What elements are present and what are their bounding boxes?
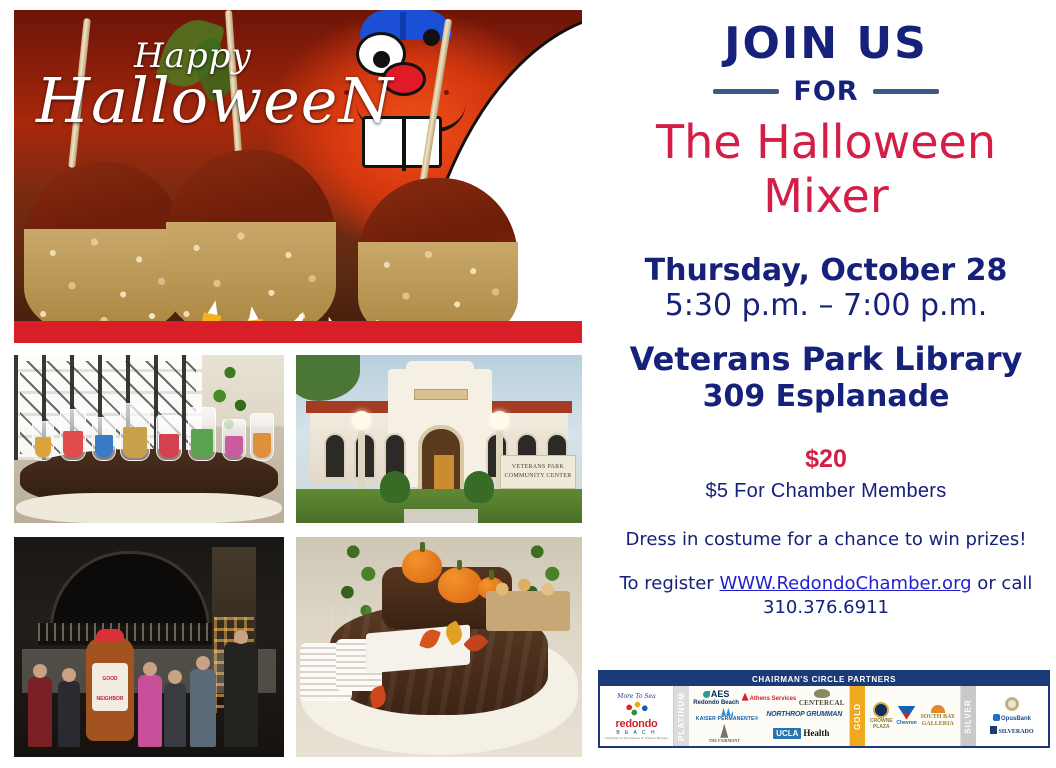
- library-plaque: [414, 389, 468, 400]
- kaiser-crown-icon: [721, 708, 733, 716]
- candy-jar: [156, 415, 182, 461]
- photo-collage: Happy HalloweeN: [14, 10, 582, 758]
- centercal-logo: CENTERCAL: [799, 689, 845, 707]
- athens-arrow-icon: [742, 693, 749, 701]
- candy-jar: [188, 407, 216, 461]
- shrub-decor: [380, 471, 410, 503]
- candy-jar: [60, 409, 86, 461]
- tier-label-gold: GOLD: [850, 686, 865, 746]
- library-sign-line2: COMMUNITY CENTER: [501, 472, 575, 481]
- caramel-apple: [24, 162, 184, 338]
- library-entrance-door: [418, 425, 464, 497]
- aes-name: AES: [711, 689, 730, 699]
- mascot-costume: GOOD NEIGHBOR: [86, 637, 134, 741]
- northrop-grumman-logo: NORTHROP GRUMMAN: [766, 711, 842, 719]
- for-label: FOR: [793, 76, 858, 107]
- silverado-logo: SILVERADO: [990, 726, 1033, 736]
- galleria-line2: GALLERIA: [920, 721, 955, 728]
- divider-rule-right: [873, 89, 939, 94]
- candy-jar: [92, 417, 116, 461]
- crowne-seal-icon: [873, 702, 889, 718]
- fairmont-logo: THE FAIRMONT: [709, 724, 740, 744]
- candy-jar: [32, 421, 54, 461]
- ucla-health-word: Health: [803, 728, 829, 738]
- aes-drop-icon: [703, 691, 710, 698]
- crowne-plaza-logo: CROWNE PLAZA: [870, 702, 893, 730]
- hero-photo-caramel-apples: Happy HalloweeN: [14, 10, 582, 343]
- centercal-name: CENTERCAL: [799, 699, 845, 707]
- event-time: 5:30 p.m. – 7:00 p.m.: [596, 288, 1056, 323]
- gold-label: GOLD: [853, 702, 862, 729]
- candy-jar: [222, 419, 246, 461]
- tier-label-silver: SILVER: [961, 686, 976, 746]
- ucla-health-logo: UCLA Health: [773, 728, 829, 739]
- event-details-panel: JOIN US FOR The Halloween Mixer Thursday…: [596, 0, 1056, 768]
- sponsor-banner: CHAIRMAN'S CIRCLE PARTNERS More To Sea r…: [598, 670, 1050, 748]
- caption-halloween: HalloweeN: [36, 72, 336, 131]
- athens-name: Athens Services: [750, 696, 797, 702]
- galleria-arch-icon: [931, 705, 945, 713]
- athens-services-logo: Athens Services: [742, 693, 797, 703]
- event-date: Thursday, October 28: [596, 254, 1056, 289]
- platinum-sponsor-logos: AES Redondo Beach Athens Services CENTER…: [689, 686, 850, 746]
- costume-note: Dress in costume for a chance to win pri…: [596, 529, 1056, 550]
- chevron-logo: Chevron: [896, 706, 916, 727]
- event-title: The Halloween Mixer: [596, 115, 1056, 224]
- mascot-text-line2: NEIGHBOR: [92, 695, 128, 703]
- library-sign-line1: VETERANS PARK: [501, 463, 575, 472]
- guest-figure: [138, 675, 162, 747]
- buffet-skirt: [16, 493, 282, 523]
- aes-logo: AES Redondo Beach: [693, 689, 739, 707]
- event-datetime: Thursday, October 28 5:30 p.m. – 7:00 p.…: [596, 254, 1056, 324]
- phone-number: 310.376.6911: [596, 596, 1056, 620]
- centercal-tree-icon: [814, 689, 830, 698]
- redondo-chamber-logo: More To Sea redondo B E A C H Chamber of…: [600, 686, 674, 746]
- library-walkway: [404, 509, 478, 523]
- guest-figure: [190, 669, 216, 747]
- silver-sponsor-logos: OpusBank SILVERADO: [976, 686, 1048, 746]
- chevron-hallmark-icon: [898, 706, 916, 720]
- event-title-line1: The Halloween: [596, 115, 1056, 169]
- for-divider-row: FOR: [596, 76, 1056, 107]
- opus-name: OpusBank: [1001, 716, 1031, 722]
- chevron-name: Chevron: [896, 720, 916, 726]
- mascot-text-line1: GOOD: [92, 675, 128, 683]
- candy-jar: [250, 413, 274, 461]
- hero-red-strip: [14, 321, 582, 343]
- pumpkin-decor: [402, 549, 442, 583]
- guest-figure: [28, 677, 52, 747]
- registration-line: To register WWW.RedondoChamber.org or ca…: [596, 572, 1056, 621]
- library-window: [324, 433, 346, 479]
- platinum-label: PLATINUM: [677, 692, 686, 741]
- guest-figure: [58, 681, 80, 747]
- silverado-mark-icon: [990, 726, 997, 734]
- aes-sub: Redondo Beach: [693, 700, 739, 707]
- caramel-apple: [358, 178, 518, 343]
- catering-buffet-photo: [296, 537, 582, 757]
- happy-halloween-caption: Happy HalloweeN: [36, 40, 336, 131]
- galleria-line1: SOUTH BAY: [920, 714, 955, 721]
- fairmont-tower-icon: [720, 724, 728, 738]
- tier-label-platinum: PLATINUM: [674, 686, 689, 746]
- library-sign: VETERANS PARK COMMUNITY CENTER: [500, 455, 576, 489]
- candy-jar: [120, 403, 150, 461]
- pumpkin-freckle: [444, 90, 449, 95]
- kaiser-permanente-logo: KAISER PERMANENTE®: [696, 708, 759, 723]
- chamber-tagline: Chamber of Commerce & Visitors Bureau: [605, 736, 668, 740]
- balcony-railing: [38, 623, 230, 645]
- mixer-crowd-photo: GOOD NEIGHBOR: [14, 537, 284, 757]
- ticket-price: $20: [596, 445, 1056, 474]
- library-roof-left: [306, 401, 392, 413]
- gold-sponsor-logos: CROWNE PLAZA Chevron SOUTH BAY GALLERIA: [865, 686, 961, 746]
- sponsor-banner-title: CHAIRMAN'S CIRCLE PARTNERS: [600, 672, 1048, 686]
- ucla-mark: UCLA: [773, 728, 801, 739]
- event-venue: Veterans Park Library 309 Esplanade: [596, 341, 1056, 414]
- chamber-script-text: More To Sea: [617, 693, 655, 700]
- veterans-park-library-photo: VETERANS PARK COMMUNITY CENTER: [296, 355, 582, 523]
- chamber-name: redondo: [616, 718, 658, 730]
- guest-figure: [224, 643, 258, 747]
- silverado-name: SILVERADO: [998, 729, 1033, 735]
- mascot-hat: [96, 629, 124, 641]
- opus-bank-logo: OpusBank: [993, 714, 1031, 723]
- chamber-mark-icon: [624, 701, 650, 717]
- mascot-bib: GOOD NEIGHBOR: [92, 663, 128, 711]
- headline-join-us: JOIN US: [596, 22, 1056, 66]
- pumpkin-decor: [438, 567, 482, 603]
- register-prefix: To register: [620, 573, 720, 594]
- city-seal-logo: [1005, 697, 1019, 711]
- venue-address: 309 Esplanade: [596, 379, 1056, 414]
- bread-basket: [486, 591, 570, 631]
- candy-buffet-photo: [14, 355, 284, 523]
- shrub-decor: [464, 471, 494, 503]
- register-link[interactable]: WWW.RedondoChamber.org: [719, 573, 971, 594]
- fairmont-name: THE FAIRMONT: [709, 738, 740, 743]
- register-suffix: or call: [972, 573, 1033, 594]
- event-title-line2: Mixer: [596, 169, 1056, 223]
- kaiser-name: KAISER PERMANENTE®: [696, 716, 759, 722]
- venue-name: Veterans Park Library: [596, 341, 1056, 379]
- divider-rule-left: [713, 89, 779, 94]
- opus-mark-icon: [993, 714, 1000, 721]
- guest-figure: [164, 683, 186, 747]
- silver-label: SILVER: [964, 699, 973, 733]
- south-bay-galleria-logo: SOUTH BAY GALLERIA: [920, 705, 955, 728]
- halloween-mixer-flyer: Happy HalloweeN: [0, 0, 1056, 768]
- sponsor-banner-body: More To Sea redondo B E A C H Chamber of…: [600, 686, 1048, 746]
- city-seal-icon: [1005, 697, 1019, 711]
- member-price-note: $5 For Chamber Members: [596, 480, 1056, 503]
- crowne-line2: PLAZA: [870, 725, 893, 731]
